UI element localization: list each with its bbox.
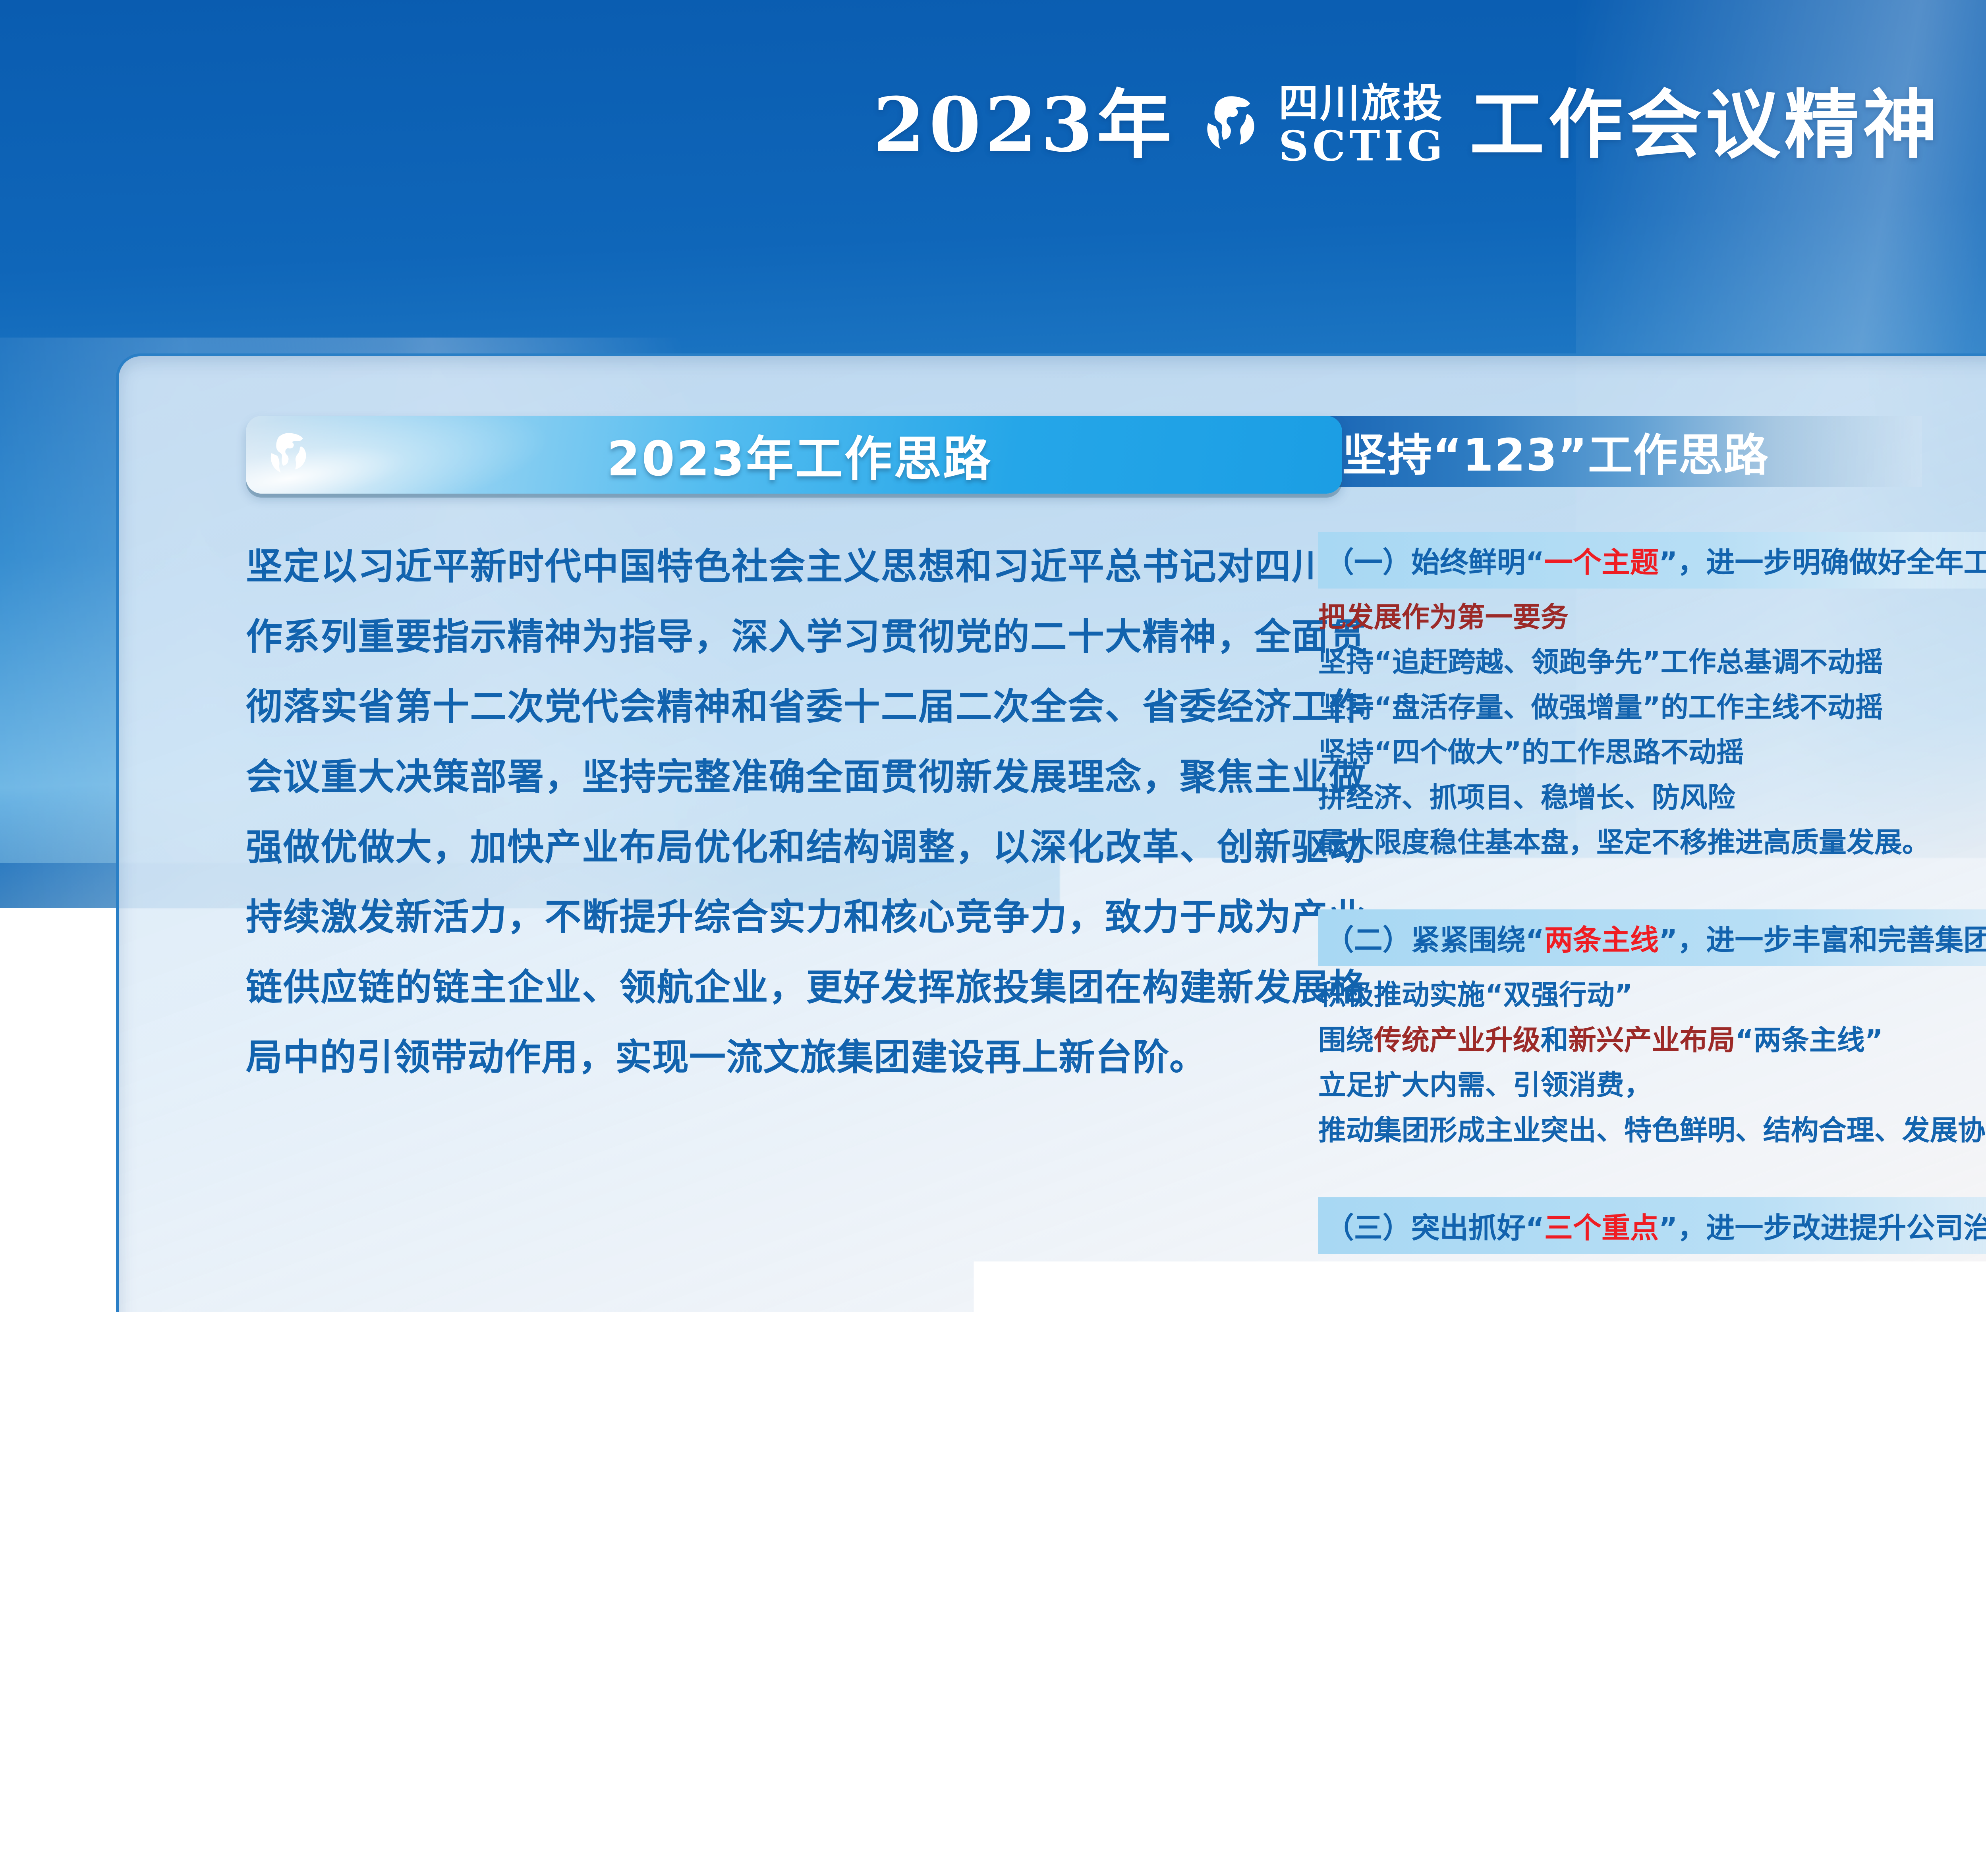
- section-two-lines: 积极推动实施“双强行动” 围绕传统产业升级和新兴产业布局“两条主线” 立足扩大内…: [1318, 973, 1986, 1153]
- left-panel-header: 2023年工作思路: [246, 416, 1342, 494]
- section-three-heading-highlight: 三个重点: [1544, 1211, 1659, 1245]
- bullet-label-2: 多管齐下强管理: [1611, 1268, 1808, 1308]
- brand-logo: 四川旅投 SCTIG: [1198, 83, 1447, 167]
- globe-icon: [1198, 90, 1268, 160]
- header-year: 2023年: [873, 88, 1175, 162]
- section-one-line-1: 把发展作为第一要务: [1318, 595, 1986, 640]
- section-one-line-3: 坚持“盘活存量、做强增量”的工作主线不动摇: [1318, 685, 1986, 730]
- section-two-line-2-part-4: 新兴产业布局: [1569, 1024, 1735, 1056]
- section-one-heading-suffix: ”，进一步明确做好全年工作的总体要求: [1659, 546, 1986, 579]
- section-two-heading-highlight: 两条主线: [1544, 923, 1659, 957]
- logo-chinese-name: 四川旅投: [1279, 83, 1447, 123]
- flag-marker-icon: [1334, 1273, 1348, 1303]
- logo-english-name: SCTIG: [1279, 125, 1447, 167]
- left-column: 2023年工作思路 坚定以习近平新时代中国特色社会主义思想和习近平总书记对四川工…: [119, 356, 1318, 1746]
- section-two-line-2-part-1: 围绕: [1318, 1024, 1374, 1056]
- section-two-line-2: 围绕传统产业升级和新兴产业布局“两条主线”: [1318, 1018, 1986, 1063]
- bullet-label-3: 压实责任保安全: [1867, 1268, 1986, 1308]
- right-panel-title: 坚持“123”工作思路: [1342, 419, 1769, 484]
- header-title: 工作会议精神: [1470, 88, 1942, 162]
- bullet-label-1: 聚力攻坚抓改革: [1355, 1268, 1552, 1308]
- section-two-line-2-part-3: 和: [1541, 1024, 1569, 1056]
- poster-root: 2023年 四川旅投 SCTIG 工作会议精神: [0, 0, 1986, 1876]
- right-panel-header: 坚持“123”工作思路: [1318, 416, 1922, 487]
- section-two-line-3: 立足扩大内需、引领消费，: [1318, 1063, 1986, 1108]
- section-three-heading: （三）突出抓好“三个重点”，进一步改进提升公司治理体系和治理效能: [1318, 1197, 1986, 1254]
- section-two-line-2-part-2: 传统产业升级: [1374, 1024, 1541, 1056]
- globe-icon: [264, 428, 317, 481]
- bullet-item: 多管齐下强管理: [1590, 1268, 1808, 1308]
- section-one-line-2: 坚持“追赶跨越、领跑争先”工作总基调不动摇: [1318, 640, 1986, 685]
- section-three-heading-suffix: ”，进一步改进提升公司治理体系和治理效能: [1659, 1211, 1986, 1245]
- flag-marker-icon: [1847, 1273, 1861, 1303]
- section-two-line-1: 积极推动实施“双强行动”: [1318, 973, 1986, 1017]
- section-three-bullets: 聚力攻坚抓改革 多管齐下强管理 压实责任保安全: [1318, 1268, 1986, 1308]
- logo-wordmark: 四川旅投 SCTIG: [1279, 83, 1447, 167]
- section-one-heading-prefix: （一）始终鲜明“: [1325, 546, 1544, 579]
- section-one-line-4: 坚持“四个做大”的工作思路不动摇: [1318, 730, 1986, 775]
- section-two: （二）紧紧围绕“两条主线”，进一步丰富和完善集团高质量发展的产业格局 积极推动实…: [1318, 909, 1986, 1153]
- section-three: （三）突出抓好“三个重点”，进一步改进提升公司治理体系和治理效能 聚力攻坚抓改革…: [1318, 1197, 1986, 1308]
- section-one-heading-highlight: 一个主题: [1544, 546, 1659, 579]
- section-one-line-6: 最大限度稳住基本盘，坚定不移推进高质量发展。: [1318, 820, 1986, 865]
- poster-header: 2023年 四川旅投 SCTIG 工作会议精神: [0, 60, 1986, 191]
- section-one-heading: （一）始终鲜明“一个主题”，进一步明确做好全年工作的总体要求: [1318, 532, 1986, 589]
- content-card: 2023年工作思路 坚定以习近平新时代中国特色社会主义思想和习近平总书记对四川工…: [116, 353, 1986, 1749]
- section-two-heading-suffix: ”，进一步丰富和完善集团高质量发展的产业格局: [1659, 923, 1986, 957]
- flag-marker-icon: [1590, 1273, 1605, 1303]
- section-one: （一）始终鲜明“一个主题”，进一步明确做好全年工作的总体要求 把发展作为第一要务…: [1318, 532, 1986, 865]
- bullet-item: 压实责任保安全: [1847, 1268, 1986, 1308]
- right-column: 坚持“123”工作思路 （一）始终鲜明“一个主题”，进一步明确做好全年工作的总体…: [1318, 356, 1986, 1746]
- section-one-lines: 把发展作为第一要务 坚持“追赶跨越、领跑争先”工作总基调不动摇 坚持“盘活存量、…: [1318, 595, 1986, 865]
- left-panel-title: 2023年工作思路: [317, 420, 1342, 489]
- section-two-heading: （二）紧紧围绕“两条主线”，进一步丰富和完善集团高质量发展的产业格局: [1318, 909, 1986, 966]
- section-two-line-2-part-5: “两条主线”: [1735, 1024, 1883, 1056]
- section-two-line-4: 推动集团形成主业突出、特色鲜明、结构合理、发展协同的产业格局。: [1318, 1108, 1986, 1153]
- section-one-line-5: 拼经济、抓项目、稳增长、防风险: [1318, 775, 1986, 820]
- left-panel-paragraph: 坚定以习近平新时代中国特色社会主义思想和习近平总书记对四川工作系列重要指示精神为…: [246, 532, 1366, 1093]
- bullet-item: 聚力攻坚抓改革: [1334, 1268, 1552, 1308]
- section-two-heading-prefix: （二）紧紧围绕“: [1325, 923, 1544, 957]
- section-three-heading-prefix: （三）突出抓好“: [1325, 1211, 1544, 1245]
